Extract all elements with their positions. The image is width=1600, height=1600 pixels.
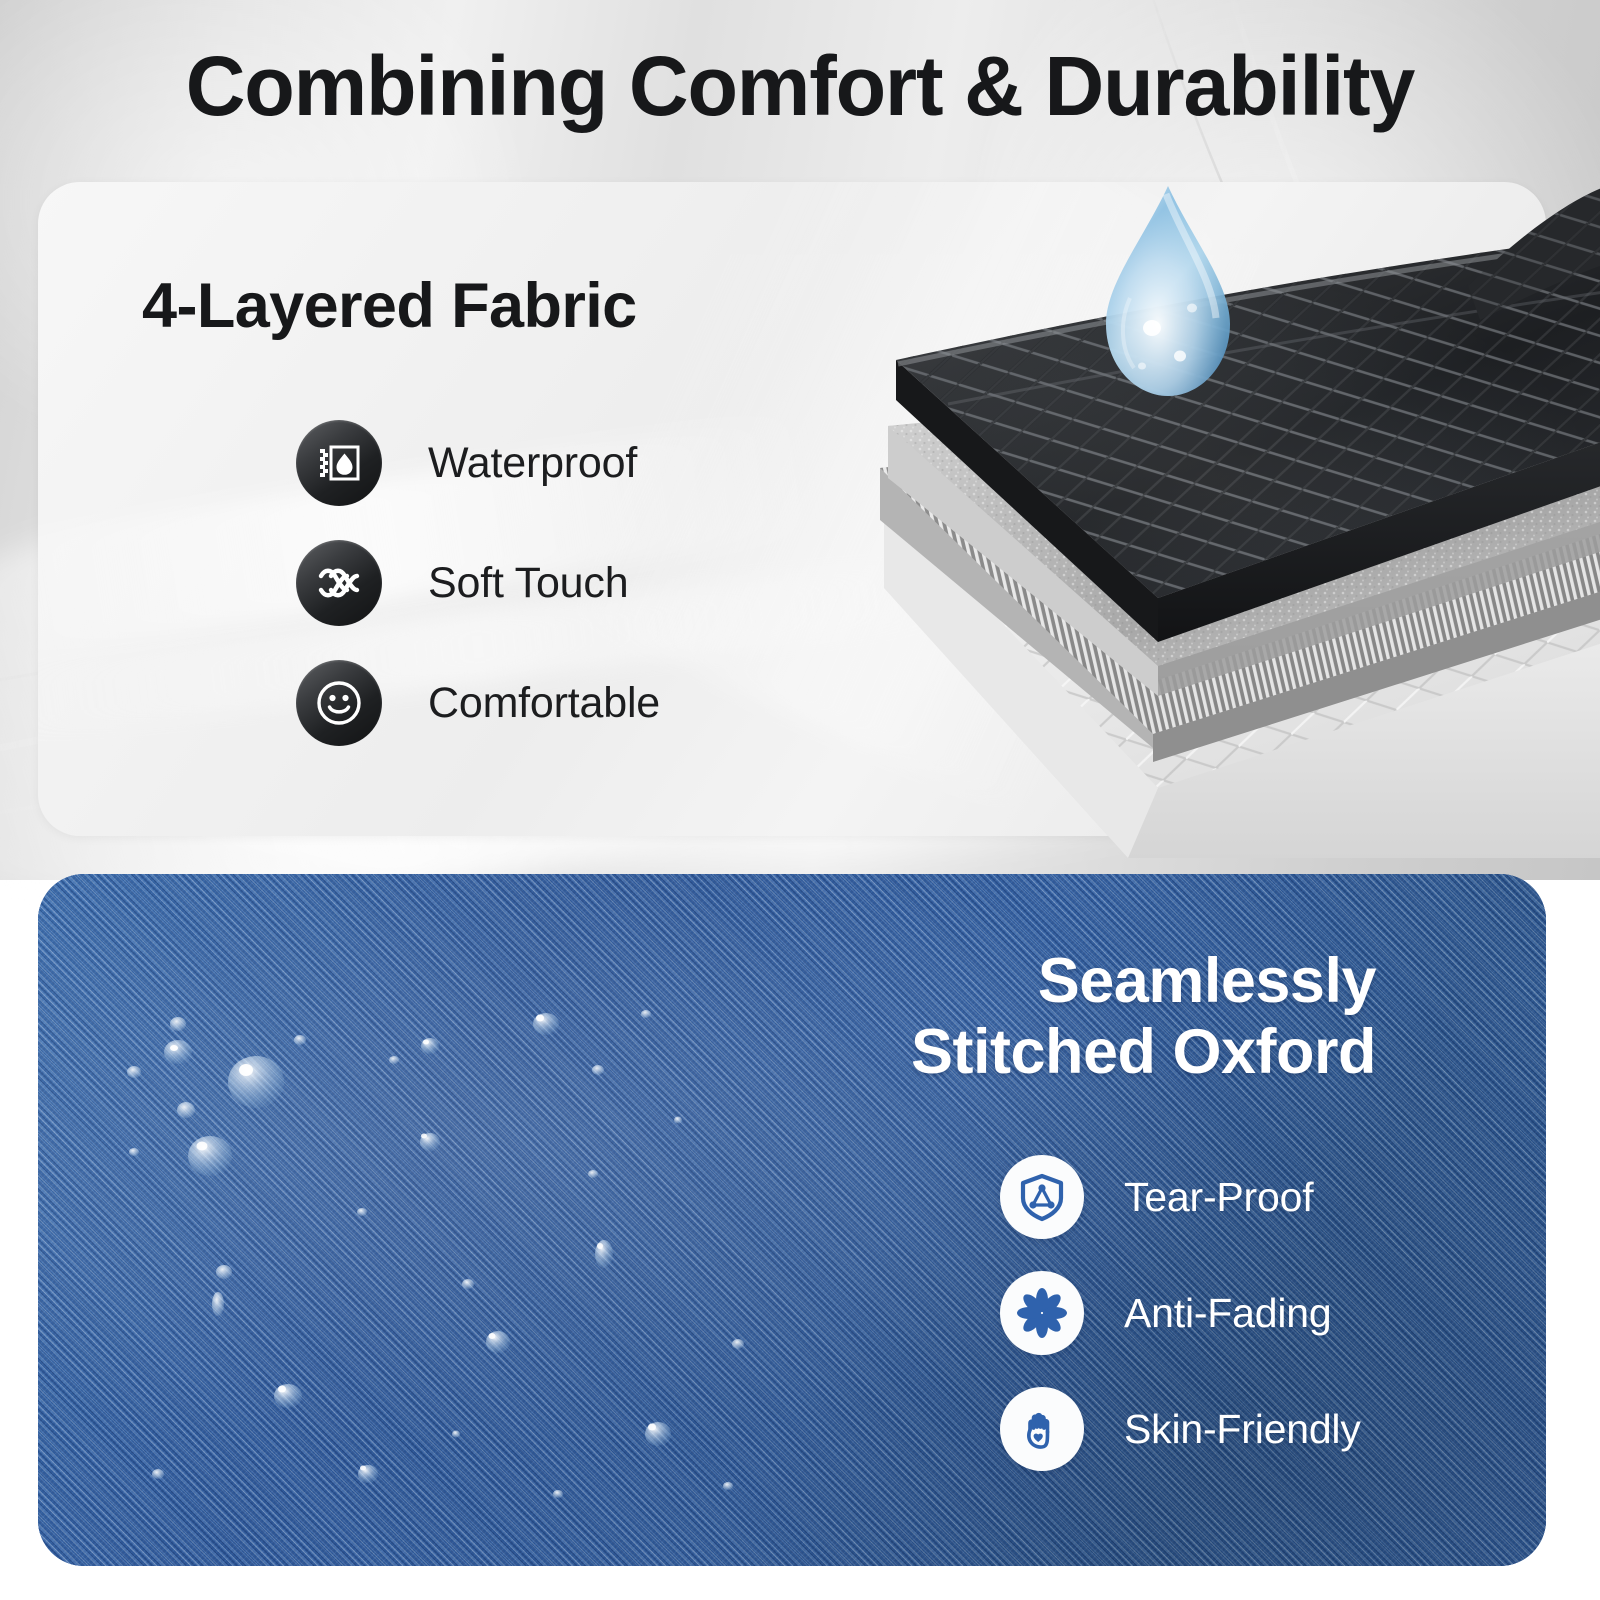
feature-item-tear-proof: Tear-Proof — [1000, 1150, 1361, 1244]
feature-label: Waterproof — [428, 439, 637, 488]
waterproof-fabric-droplet-icon — [296, 420, 382, 506]
feature-label: Tear-Proof — [1124, 1174, 1313, 1221]
feature-item-waterproof: Waterproof — [296, 414, 660, 512]
skin-friendly-hand-heart-icon — [1000, 1387, 1084, 1471]
feature-item-comfortable: Comfortable — [296, 654, 660, 752]
white-feature-card: 4-Layered Fabric — [38, 182, 1546, 836]
denim-card-title: Seamlessly Stitched Oxford — [616, 946, 1376, 1087]
denim-feature-card: Seamlessly Stitched Oxford Tear-Proof — [38, 874, 1546, 1566]
white-card-title: 4-Layered Fabric — [142, 270, 637, 342]
feature-label: Comfortable — [428, 679, 660, 728]
denim-card-title-line1: Seamlessly — [616, 946, 1376, 1017]
feature-label: Soft Touch — [428, 559, 628, 608]
marketing-infographic: Combining Comfort & Durability 4-Layered… — [0, 0, 1600, 1600]
feature-label: Skin-Friendly — [1124, 1406, 1361, 1453]
feature-label: Anti-Fading — [1124, 1290, 1331, 1337]
page-title: Combining Comfort & Durability — [12, 38, 1588, 135]
denim-card-title-line2: Stitched Oxford — [616, 1017, 1376, 1088]
comfortable-smiley-icon — [296, 660, 382, 746]
denim-card-feature-list: Tear-Proof — [1000, 1150, 1361, 1476]
anti-fading-flower-icon — [1000, 1271, 1084, 1355]
feature-item-anti-fading: Anti-Fading — [1000, 1266, 1361, 1360]
soft-touch-wave-icon — [296, 540, 382, 626]
feature-item-skin-friendly: Skin-Friendly — [1000, 1382, 1361, 1476]
white-card-feature-list: Waterproof Soft Touch — [296, 414, 660, 752]
feature-item-soft-touch: Soft Touch — [296, 534, 660, 632]
tear-proof-shield-icon — [1000, 1155, 1084, 1239]
